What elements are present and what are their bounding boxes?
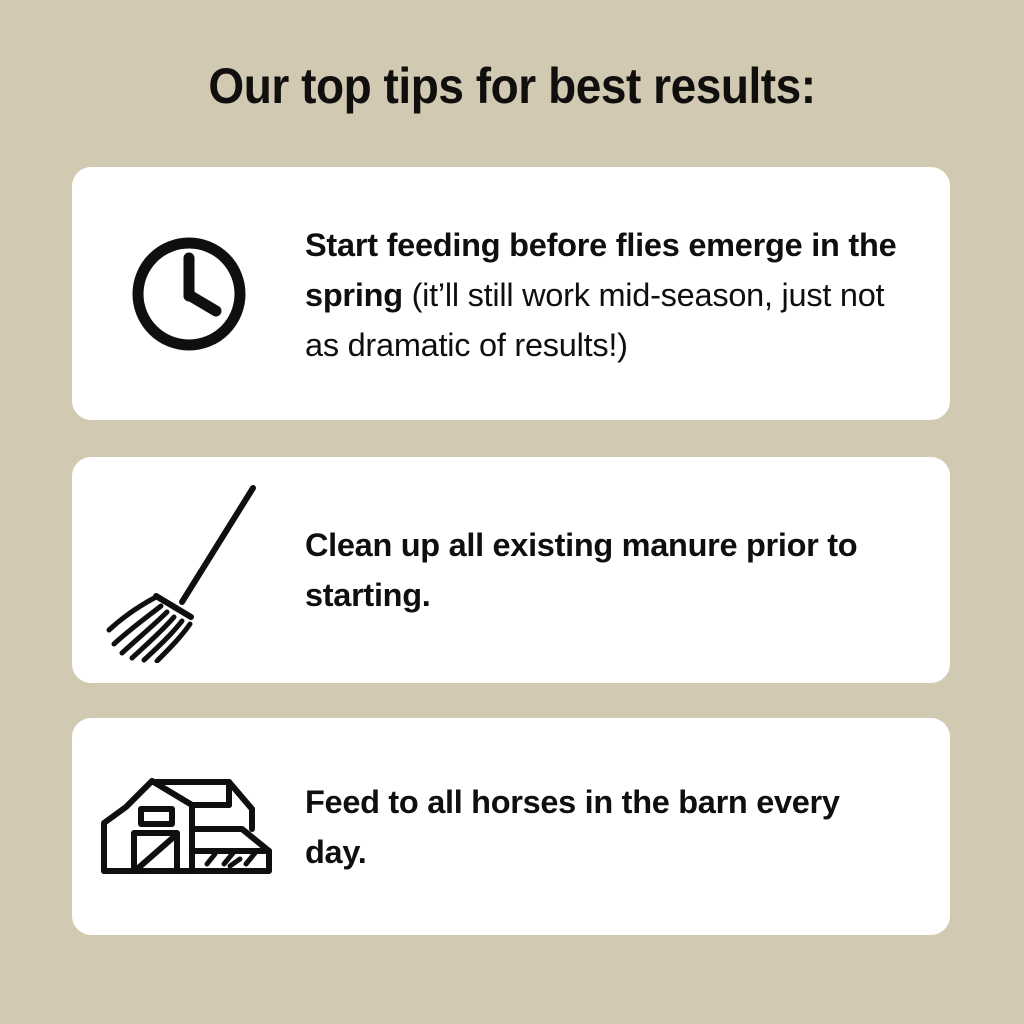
clock-icon [127, 232, 251, 356]
tip-card-2-icon-slot [72, 457, 305, 683]
tip-card-1-icon-slot [72, 167, 305, 420]
barn-icon [94, 771, 284, 883]
tip-card-3-icon-slot [72, 718, 305, 935]
tip-card-1: Start feeding before flies emerge in the… [72, 167, 950, 420]
page-title: Our top tips for best results: [41, 57, 983, 115]
tip-card-3: Feed to all horses in the barn every day… [72, 718, 950, 935]
tip-card-3-bold-text: Feed to all horses in the barn every day… [305, 777, 905, 877]
pitchfork-icon [99, 478, 279, 663]
tip-card-1-text: Start feeding before flies emerge in the… [305, 167, 905, 420]
tips-graphic: Our top tips for best results: Start fee… [0, 0, 1024, 1024]
tip-card-2-text: Clean up all existing manure prior to st… [305, 457, 905, 683]
tip-card-2: Clean up all existing manure prior to st… [72, 457, 950, 683]
tip-card-1-paragraph: Start feeding before flies emerge in the… [305, 220, 905, 370]
tip-card-2-bold-text: Clean up all existing manure prior to st… [305, 520, 905, 620]
tip-card-3-text: Feed to all horses in the barn every day… [305, 718, 905, 935]
